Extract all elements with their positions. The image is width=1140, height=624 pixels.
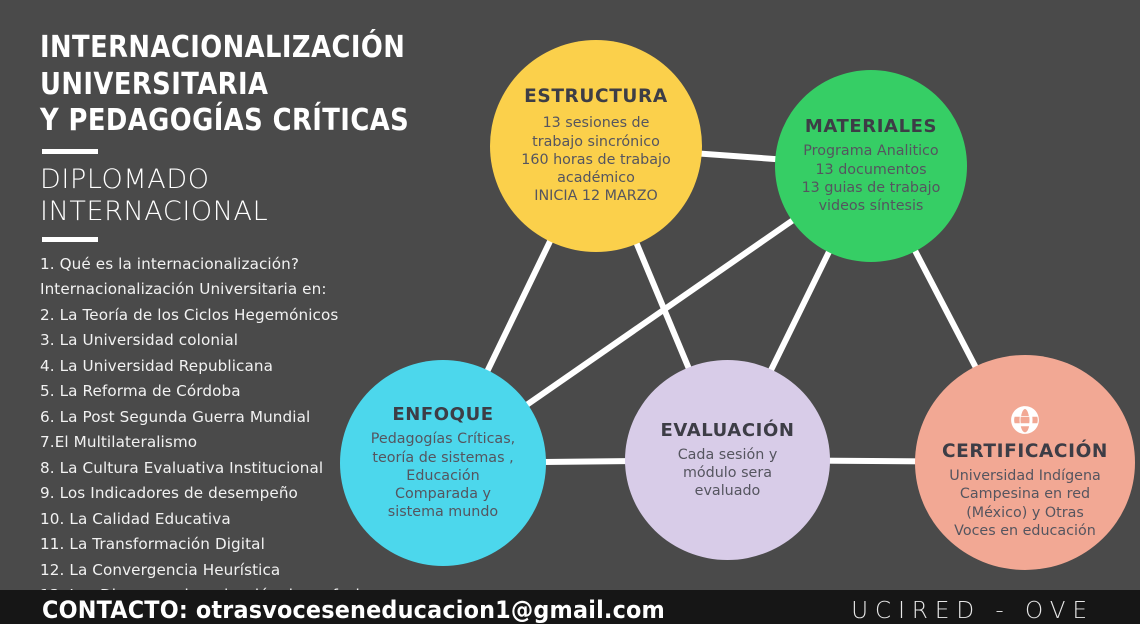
- title-divider: [42, 149, 98, 154]
- node-text-line: Programa Analitico: [802, 142, 941, 160]
- node-enfoque-title: ENFOQUE: [392, 404, 493, 425]
- node-text-line: Pedagogías Críticas,: [371, 430, 515, 448]
- node-text-line: videos síntesis: [802, 197, 941, 215]
- node-text-line: sistema mundo: [371, 503, 515, 521]
- node-evaluacion-title: EVALUACIÓN: [660, 420, 794, 441]
- node-text-line: 160 horas de trabajo: [521, 151, 671, 169]
- node-text-line: 13 sesiones de: [521, 114, 671, 132]
- node-estructura-title: ESTRUCTURA: [524, 86, 668, 107]
- node-text-line: INICIA 12 MARZO: [521, 187, 671, 205]
- node-text-line: Voces en educación: [949, 522, 1101, 540]
- node-estructura[interactable]: ESTRUCTURA 13 sesiones de trabajo sincró…: [490, 40, 702, 252]
- node-text-line: módulo sera: [678, 464, 778, 482]
- node-certificacion-title: CERTIFICACIÓN: [942, 441, 1108, 462]
- node-enfoque[interactable]: ENFOQUE Pedagogías Críticas, teoría de s…: [340, 360, 546, 566]
- node-certificacion[interactable]: CERTIFICACIÓN Universidad Indígena Campe…: [915, 355, 1135, 570]
- node-materiales[interactable]: MATERIALES Programa Analitico 13 documen…: [775, 70, 967, 262]
- node-evaluacion[interactable]: EVALUACIÓN Cada sesión y módulo sera eva…: [625, 360, 830, 560]
- node-text-line: teoría de sistemas ,: [371, 449, 515, 467]
- node-enfoque-body: Pedagogías Críticas, teoría de sistemas …: [371, 430, 515, 521]
- node-certificacion-body: Universidad Indígena Campesina en red (M…: [949, 467, 1101, 540]
- subtitle-divider: [42, 237, 98, 242]
- node-text-line: académico: [521, 169, 671, 187]
- node-text-line: Educación: [371, 467, 515, 485]
- node-text-line: Campesina en red: [949, 485, 1101, 503]
- brand-text: UCIRED - OVE: [851, 599, 1100, 624]
- node-text-line: (México) y Otras: [949, 504, 1101, 522]
- network-diagram: ESTRUCTURA 13 sesiones de trabajo sincró…: [330, 20, 1140, 590]
- node-materiales-title: MATERIALES: [805, 116, 937, 137]
- node-estructura-body: 13 sesiones de trabajo sincrónico 160 ho…: [521, 114, 671, 205]
- globe-icon: [1010, 405, 1040, 435]
- node-text-line: evaluado: [678, 482, 778, 500]
- node-text-line: trabajo sincrónico: [521, 133, 671, 151]
- node-text-line: Comparada y: [371, 485, 515, 503]
- node-text-line: 13 documentos: [802, 161, 941, 179]
- node-evaluacion-body: Cada sesión y módulo sera evaluado: [678, 446, 778, 501]
- node-text-line: Universidad Indígena: [949, 467, 1101, 485]
- node-text-line: 13 guias de trabajo: [802, 179, 941, 197]
- node-text-line: Cada sesión y: [678, 446, 778, 464]
- node-materiales-body: Programa Analitico 13 documentos 13 guia…: [802, 142, 941, 215]
- contact-text: CONTACTO: otrasvoceseneducacion1@gmail.c…: [42, 598, 665, 624]
- footer-bar: CONTACTO: otrasvoceseneducacion1@gmail.c…: [0, 590, 1140, 624]
